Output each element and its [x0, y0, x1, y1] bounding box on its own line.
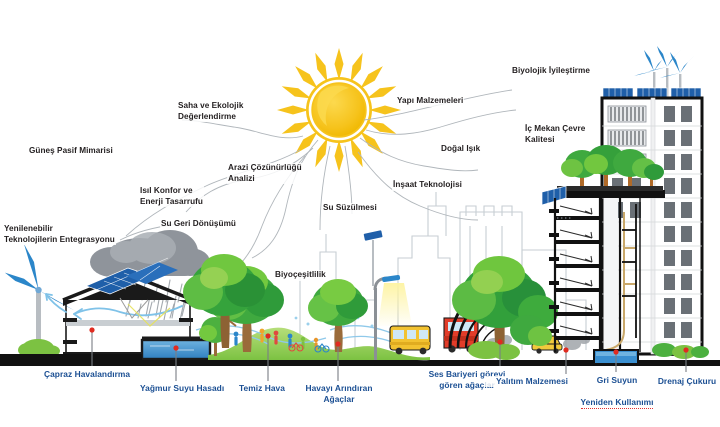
label-gri-suyun: Gri Suyun	[578, 375, 656, 386]
solar-panel-icon	[603, 88, 701, 97]
label-gunes-pasif-mimarisi: Güneş Pasif Mimarisi	[28, 146, 114, 157]
label-drenaj-cukuru: Drenaj Çukuru	[646, 376, 720, 387]
label-gri-suyun-yeniden-kullanimi: Yeniden Kullanımı	[572, 386, 662, 409]
label-yagmur-suyu-hasadi: Yağmur Suyu Hasadı	[139, 383, 225, 394]
label-su-suzulmesi: Su Süzülmesi	[322, 203, 378, 214]
infographic-illustration	[0, 0, 720, 427]
label-yenilenebilir-teknoloji: Yenilenebilir Teknolojilerin Entegrasyon…	[3, 224, 116, 245]
label-insaat-teknolojisi: İnşaat Teknolojisi	[392, 180, 463, 191]
tree-icon	[416, 302, 448, 330]
label-biyocesitlilik: Biyoçeşitlilik	[274, 270, 327, 281]
label-ic-mekan-cevre-kalitesi: İç Mekan Çevre Kalitesi	[524, 124, 586, 145]
bus-icon	[390, 326, 430, 354]
spellcheck-underlined-text: Yeniden Kullanımı	[581, 397, 654, 409]
label-isil-konfor: Isıl Konfor ve Enerji Tasarrufu	[139, 186, 204, 207]
infographic-canvas: Güneş Pasif Mimarisi Yenilenebilir Tekno…	[0, 0, 720, 427]
label-havayi-arindiran-agaclar: Havayı Arındıran Ağaçlar	[288, 383, 390, 405]
sun-icon	[277, 48, 401, 172]
label-yapi-malzemeleri: Yapı Malzemeleri	[396, 96, 464, 107]
label-dogal-isik: Doğal Işık	[440, 144, 481, 155]
label-saha-ve-ekolojik: Saha ve Ekolojik Değerlendirme	[177, 101, 244, 122]
shrub-icon	[468, 341, 520, 360]
label-arazi-cozunurlugu: Arazi Çözünürlüğü Analizi	[227, 163, 303, 184]
label-capraz-havalandirma: Çapraz Havalandırma	[43, 369, 131, 380]
label-su-geri-donusumu: Su Geri Dönüşümü	[160, 219, 237, 230]
label-yalitim-malzemesi: Yalıtım Malzemesi	[484, 376, 580, 387]
label-biyolojik-iyilestirme: Biyolojik İyileştirme	[511, 66, 591, 77]
solar-panel-icon	[364, 230, 383, 241]
label-temiz-hava: Temiz Hava	[238, 383, 286, 394]
